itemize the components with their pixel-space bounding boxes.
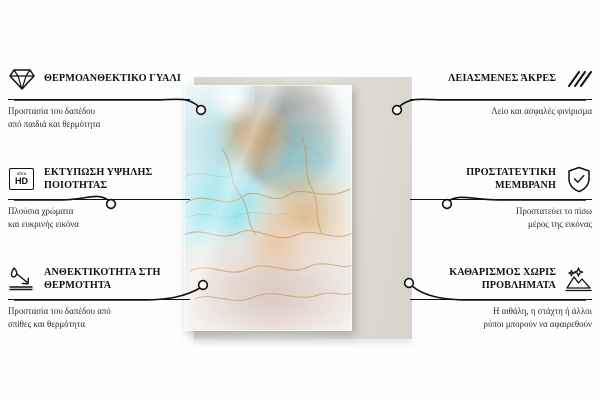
feature-description-line: Λείο και ασφαλές φινίρισμα	[410, 105, 592, 118]
feature-divider	[8, 299, 190, 300]
glass-panel-product[interactable]	[184, 85, 352, 331]
feature-easy-cleaning: ΚΑΘΑΡΙΣΜΟΣ ΧΩΡΙΣ ΠΡΟΒΛΗΜΑΤΑ Η αιθάλη, η …	[410, 264, 592, 330]
feature-divider	[410, 199, 592, 200]
feature-description: Προστατεύει το πίσω μέρος της εικόνας	[410, 205, 592, 230]
feature-title: ΠΡΟΣΤΑΤΕΥΤΙΚΗ ΜΕΜΒΡΑΝΗ	[410, 166, 556, 193]
feature-description: Λείο και ασφαλές φινίρισμα	[410, 105, 592, 118]
feature-description-line: Προστασία του δαπέδου	[8, 105, 190, 118]
feature-title: ΘΕΡΜΟΑΝΘΕΚΤΙΚΟ ΓΥΑΛΙ	[44, 72, 181, 85]
feature-description-line: Πλούσια χρώματα	[8, 205, 190, 218]
feature-description-line: Η αιθάλη, η στάχτη ή άλλοι	[410, 305, 592, 318]
feature-header: ΠΡΟΣΤΑΤΕΥΤΙΚΗ ΜΕΜΒΡΑΝΗ	[410, 164, 592, 194]
glass-edge-highlight	[184, 85, 352, 331]
easy-cleaning-icon	[565, 266, 592, 293]
feature-heat-resistant-glass: ΘΕΡΜΟΑΝΘΕΚΤΙΚΟ ΓΥΑΛΙ Προστασία του δαπέδ…	[8, 64, 190, 130]
feature-header: ΚΑΘΑΡΙΣΜΟΣ ΧΩΡΙΣ ΠΡΟΒΛΗΜΑΤΑ	[410, 264, 592, 294]
feature-description-line: σπίθες και θερμότητα	[8, 318, 190, 331]
feature-protective-film: ΠΡΟΣΤΑΤΕΥΤΙΚΗ ΜΕΜΒΡΑΝΗ Προστατεύει το πί…	[410, 164, 592, 230]
feature-description-line: και ευκρινής εικόνα	[8, 218, 190, 231]
feature-title: ΕΚΤΥΠΩΣΗ ΥΨΗΛΗΣ ΠΟΙΟΤΗΤΑΣ	[44, 166, 190, 193]
feature-description-line: ρύποι μπορούν να αφαιρεθούν	[410, 318, 592, 331]
feature-divider	[410, 99, 592, 100]
feature-title: ΑΝΘΕΚΤΙΚΟΤΗΤΑ ΣΤΗ ΘΕΡΜΟΤΗΤΑ	[44, 266, 190, 293]
feature-polished-edges: ΛΕΙΑΣΜΕΝΕΣ ΆΚΡΕΣ Λείο και ασφαλές φινίρι…	[410, 64, 592, 118]
ultra-hd-icon-bottom-label: HD	[15, 177, 28, 186]
product-feature-infographic: ΘΕΡΜΟΑΝΘΕΚΤΙΚΟ ΓΥΑΛΙ Προστασία του δαπέδ…	[0, 0, 600, 400]
feature-description-line: Προστασία του δαπέδου από	[8, 305, 190, 318]
feature-header: ΘΕΡΜΟΑΝΘΕΚΤΙΚΟ ΓΥΑΛΙ	[8, 64, 190, 94]
shield-check-icon	[565, 166, 592, 193]
feature-header: ultra HD ΕΚΤΥΠΩΣΗ ΥΨΗΛΗΣ ΠΟΙΟΤΗΤΑΣ	[8, 164, 190, 194]
heat-resistance-icon	[8, 266, 35, 293]
feature-header: ΑΝΘΕΚΤΙΚΟΤΗΤΑ ΣΤΗ ΘΕΡΜΟΤΗΤΑ	[8, 264, 190, 294]
polished-edges-icon	[565, 66, 592, 93]
ultra-hd-icon: ultra HD	[8, 166, 35, 193]
feature-description: Πλούσια χρώματα και ευκρινής εικόνα	[8, 205, 190, 230]
feature-header: ΛΕΙΑΣΜΕΝΕΣ ΆΚΡΕΣ	[410, 64, 592, 94]
feature-description: Προστασία του δαπέδου από σπίθες και θερ…	[8, 305, 190, 330]
feature-description-line: από παιδιά και θερμότητα	[8, 118, 190, 131]
feature-divider	[8, 99, 190, 100]
feature-title: ΛΕΙΑΣΜΕΝΕΣ ΆΚΡΕΣ	[448, 72, 556, 85]
product-stage	[176, 70, 426, 360]
feature-description: Η αιθάλη, η στάχτη ή άλλοι ρύποι μπορούν…	[410, 305, 592, 330]
feature-title: ΚΑΘΑΡΙΣΜΟΣ ΧΩΡΙΣ ΠΡΟΒΛΗΜΑΤΑ	[410, 266, 556, 293]
feature-divider	[8, 199, 190, 200]
feature-high-quality-print: ultra HD ΕΚΤΥΠΩΣΗ ΥΨΗΛΗΣ ΠΟΙΟΤΗΤΑΣ Πλούσ…	[8, 164, 190, 230]
diamond-icon	[8, 66, 35, 93]
feature-description-line: μέρος της εικόνας	[410, 218, 592, 231]
feature-description: Προστασία του δαπέδου από παιδιά και θερ…	[8, 105, 190, 130]
feature-divider	[410, 299, 592, 300]
feature-description-line: Προστατεύει το πίσω	[410, 205, 592, 218]
feature-heat-durability: ΑΝΘΕΚΤΙΚΟΤΗΤΑ ΣΤΗ ΘΕΡΜΟΤΗΤΑ Προστασία το…	[8, 264, 190, 330]
